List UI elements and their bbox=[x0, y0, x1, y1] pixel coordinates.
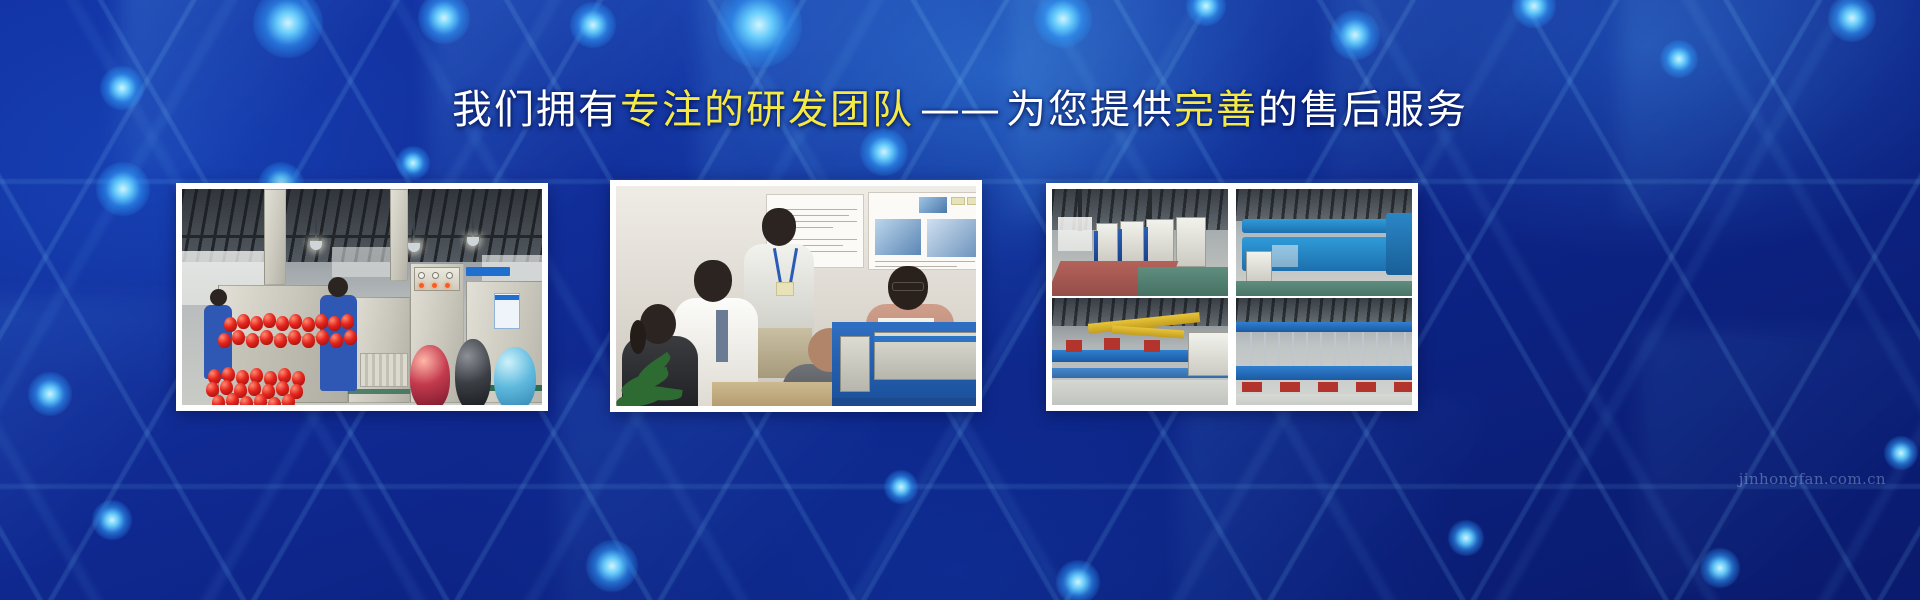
wall-poster bbox=[868, 192, 976, 270]
headline-segment-1: 我们拥有 bbox=[452, 87, 620, 133]
collage-cell-top-right bbox=[1236, 189, 1412, 296]
red-glassware-pile bbox=[206, 367, 366, 405]
team-meeting-image bbox=[616, 186, 976, 406]
headline-segment-4: 完善 bbox=[1174, 87, 1258, 133]
headline-segment-3: 为您提供 bbox=[1006, 87, 1174, 133]
team-meeting-photo[interactable] bbox=[610, 180, 982, 412]
headline-dash: —— bbox=[914, 87, 1006, 133]
glass-vase-blue bbox=[494, 347, 536, 405]
equipment-collage-image bbox=[1052, 189, 1412, 405]
production-line-image bbox=[182, 189, 542, 405]
overhead-conveyor bbox=[1236, 322, 1412, 332]
page-title: 我们拥有专注的研发团队——为您提供完善的售后服务 bbox=[0, 86, 1920, 134]
site-watermark: jinhongfan.com.cn bbox=[1739, 470, 1886, 488]
headline-segment-5: 的售后服务 bbox=[1258, 87, 1468, 133]
collage-cell-bottom-left bbox=[1052, 298, 1228, 405]
plastic-crate bbox=[360, 353, 408, 387]
glass-vase-black bbox=[455, 339, 491, 405]
equipment-collage-photo[interactable] bbox=[1046, 183, 1418, 411]
production-line-photo[interactable] bbox=[176, 183, 548, 411]
collage-cell-bottom-right bbox=[1236, 298, 1412, 405]
promo-banner: 我们拥有专注的研发团队——为您提供完善的售后服务 bbox=[0, 0, 1920, 600]
collage-cell-top-left bbox=[1052, 189, 1228, 296]
glass-vase-red bbox=[410, 345, 450, 405]
headline-segment-2: 专注的研发团队 bbox=[620, 87, 914, 133]
